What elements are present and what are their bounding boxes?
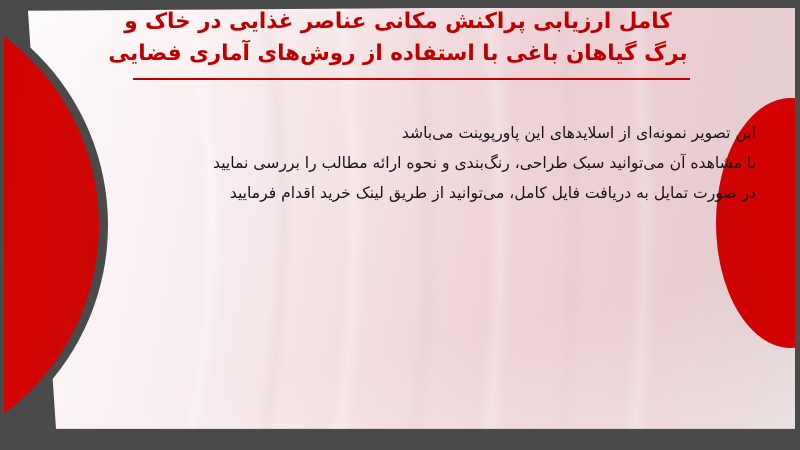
body-line-1: این تصویر نمونه‌ای از اسلایدهای این پاور…: [35, 118, 780, 148]
frame-left-border: [0, 0, 4, 450]
slide-title: کامل ارزیابی پراکنش مکانی عناصر غذایی در…: [88, 6, 708, 71]
body-line-2: با مشاهده آن می‌توانید سبک طراحی، رنگ‌بن…: [35, 148, 780, 178]
slide-title-line-2: برگ گیاهان باغی با استفاده از روش‌های آم…: [88, 38, 708, 70]
title-underline-rule: [133, 78, 690, 80]
slide-title-line-1: کامل ارزیابی پراکنش مکانی عناصر غذایی در…: [88, 6, 708, 38]
presentation-slide: کامل ارزیابی پراکنش مکانی عناصر غذایی در…: [0, 0, 800, 450]
body-line-3: در صورت تمایل به دریافت فایل کامل، می‌تو…: [35, 178, 780, 208]
frame-right-border: [795, 0, 800, 450]
frame-bottom-border: [0, 432, 800, 450]
slide-body-text: این تصویر نمونه‌ای از اسلایدهای این پاور…: [35, 118, 780, 208]
